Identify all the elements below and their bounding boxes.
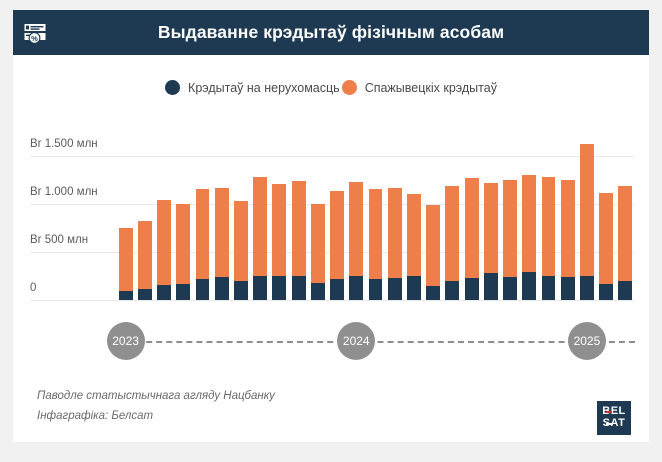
bar-segment-real-estate [484, 273, 498, 300]
bar-segment-consumer [196, 189, 210, 279]
bar-segment-real-estate [234, 281, 248, 300]
bar-segment-real-estate [503, 277, 517, 300]
bar-segment-consumer [330, 191, 344, 280]
bar-segment-real-estate [426, 286, 440, 300]
bar-segment-consumer [234, 201, 248, 281]
footer: Паводле статыстычнага агляду Нацбанку Ін… [13, 382, 649, 442]
bar-segment-real-estate [272, 276, 286, 300]
bar-column [330, 191, 344, 300]
year-timeline: 202320242025 [13, 310, 649, 372]
bar-column [272, 184, 286, 300]
infographic-root: % Выдаванне крэдытаў фізічным асобам Крэ… [0, 0, 662, 462]
bar-column [580, 144, 594, 300]
bar-column [349, 182, 363, 300]
chart-legend: Крэдытаў на нерухомасць Спажывецкіх крэд… [13, 80, 649, 95]
bar-series-group [13, 120, 649, 310]
infographic-card: % Выдаванне крэдытаў фізічным асобам Крэ… [13, 10, 649, 442]
bar-segment-consumer [599, 193, 613, 283]
bar-segment-consumer [292, 181, 306, 276]
credit-note: Інфаграфіка: Белсат [37, 410, 153, 422]
bar-column [599, 193, 613, 300]
year-marker-2025: 2025 [568, 322, 606, 360]
credit-card-percent-icon: % [13, 10, 57, 55]
bar-segment-real-estate [349, 276, 363, 300]
bar-column [445, 186, 459, 300]
legend-item-real-estate: Крэдытаў на нерухомасць [165, 80, 340, 95]
bar-segment-consumer [465, 178, 479, 278]
bar-segment-real-estate [330, 279, 344, 300]
bar-column [253, 177, 267, 300]
bar-segment-consumer [503, 180, 517, 277]
bar-column [292, 181, 306, 300]
bar-column [234, 201, 248, 300]
belsat-logo-accent-bar [606, 411, 612, 413]
bar-column [618, 186, 632, 300]
belsat-logo-accent-bar-2 [606, 423, 612, 425]
bar-segment-real-estate [561, 277, 575, 300]
legend-item-consumer: Спажывецкіх крэдытаў [342, 80, 497, 95]
bar-segment-real-estate [196, 279, 210, 300]
legend-dot-navy [165, 80, 180, 95]
bar-segment-real-estate [522, 272, 536, 300]
header-bar: % Выдаванне крэдытаў фізічным асобам [13, 10, 649, 55]
bar-column [465, 178, 479, 300]
bar-segment-consumer [119, 228, 133, 291]
bar-segment-consumer [311, 204, 325, 283]
bar-column [522, 175, 536, 300]
year-marker-2023: 2023 [107, 322, 145, 360]
bar-column [311, 204, 325, 300]
bar-column [119, 228, 133, 300]
bar-segment-consumer [580, 144, 594, 277]
bar-segment-consumer [349, 182, 363, 276]
bar-segment-consumer [445, 186, 459, 281]
bar-segment-consumer [157, 200, 171, 284]
bar-segment-consumer [272, 184, 286, 276]
bar-segment-real-estate [407, 276, 421, 300]
bar-segment-real-estate [445, 281, 459, 300]
bar-column [426, 205, 440, 300]
bar-segment-consumer [138, 221, 152, 289]
bar-column [388, 188, 402, 300]
bar-segment-consumer [484, 183, 498, 272]
source-note: Паводле статыстычнага агляду Нацбанку [37, 390, 275, 402]
bar-segment-consumer [388, 188, 402, 278]
belsat-logo: BEL SAT [597, 401, 631, 435]
bar-segment-consumer [542, 177, 556, 276]
bar-segment-real-estate [465, 278, 479, 300]
bar-segment-consumer [522, 175, 536, 272]
bar-column [138, 221, 152, 300]
timeline-dashed-line [126, 341, 635, 343]
bar-segment-consumer [407, 194, 421, 276]
bar-column [407, 194, 421, 300]
bar-column [196, 189, 210, 300]
belsat-logo-line-2: SAT [603, 418, 626, 430]
bar-segment-real-estate [618, 281, 632, 300]
bar-segment-real-estate [119, 291, 133, 300]
bar-segment-real-estate [157, 285, 171, 300]
bar-column [369, 189, 383, 300]
chart-plot-area: 0Br 500 млнBr 1.000 млнBr 1.500 млн [13, 120, 649, 310]
bar-column [215, 188, 229, 300]
bar-column [503, 180, 517, 300]
bar-segment-consumer [426, 205, 440, 286]
bar-segment-consumer [253, 177, 267, 276]
year-marker-2024: 2024 [337, 322, 375, 360]
bar-column [561, 180, 575, 300]
legend-label-real-estate: Крэдытаў на нерухомасць [188, 81, 340, 95]
bar-segment-real-estate [580, 276, 594, 300]
legend-dot-orange [342, 80, 357, 95]
bar-column [157, 200, 171, 300]
bar-segment-consumer [176, 204, 190, 284]
bar-segment-real-estate [176, 284, 190, 300]
bar-segment-consumer [618, 186, 632, 281]
bar-segment-real-estate [388, 278, 402, 300]
bar-column [542, 177, 556, 300]
bar-segment-consumer [561, 180, 575, 278]
bar-column [484, 183, 498, 300]
bar-segment-consumer [369, 189, 383, 279]
bar-segment-real-estate [369, 279, 383, 300]
legend-label-consumer: Спажывецкіх крэдытаў [365, 81, 497, 95]
bar-segment-real-estate [599, 284, 613, 300]
bar-column [176, 204, 190, 300]
bar-segment-real-estate [253, 276, 267, 300]
bar-segment-real-estate [311, 283, 325, 300]
bar-segment-real-estate [138, 289, 152, 300]
svg-text:%: % [31, 34, 38, 43]
bar-segment-real-estate [292, 276, 306, 300]
bar-segment-real-estate [542, 276, 556, 300]
page-title: Выдаванне крэдытаў фізічным асобам [57, 22, 649, 43]
bar-segment-real-estate [215, 277, 229, 300]
bar-segment-consumer [215, 188, 229, 277]
